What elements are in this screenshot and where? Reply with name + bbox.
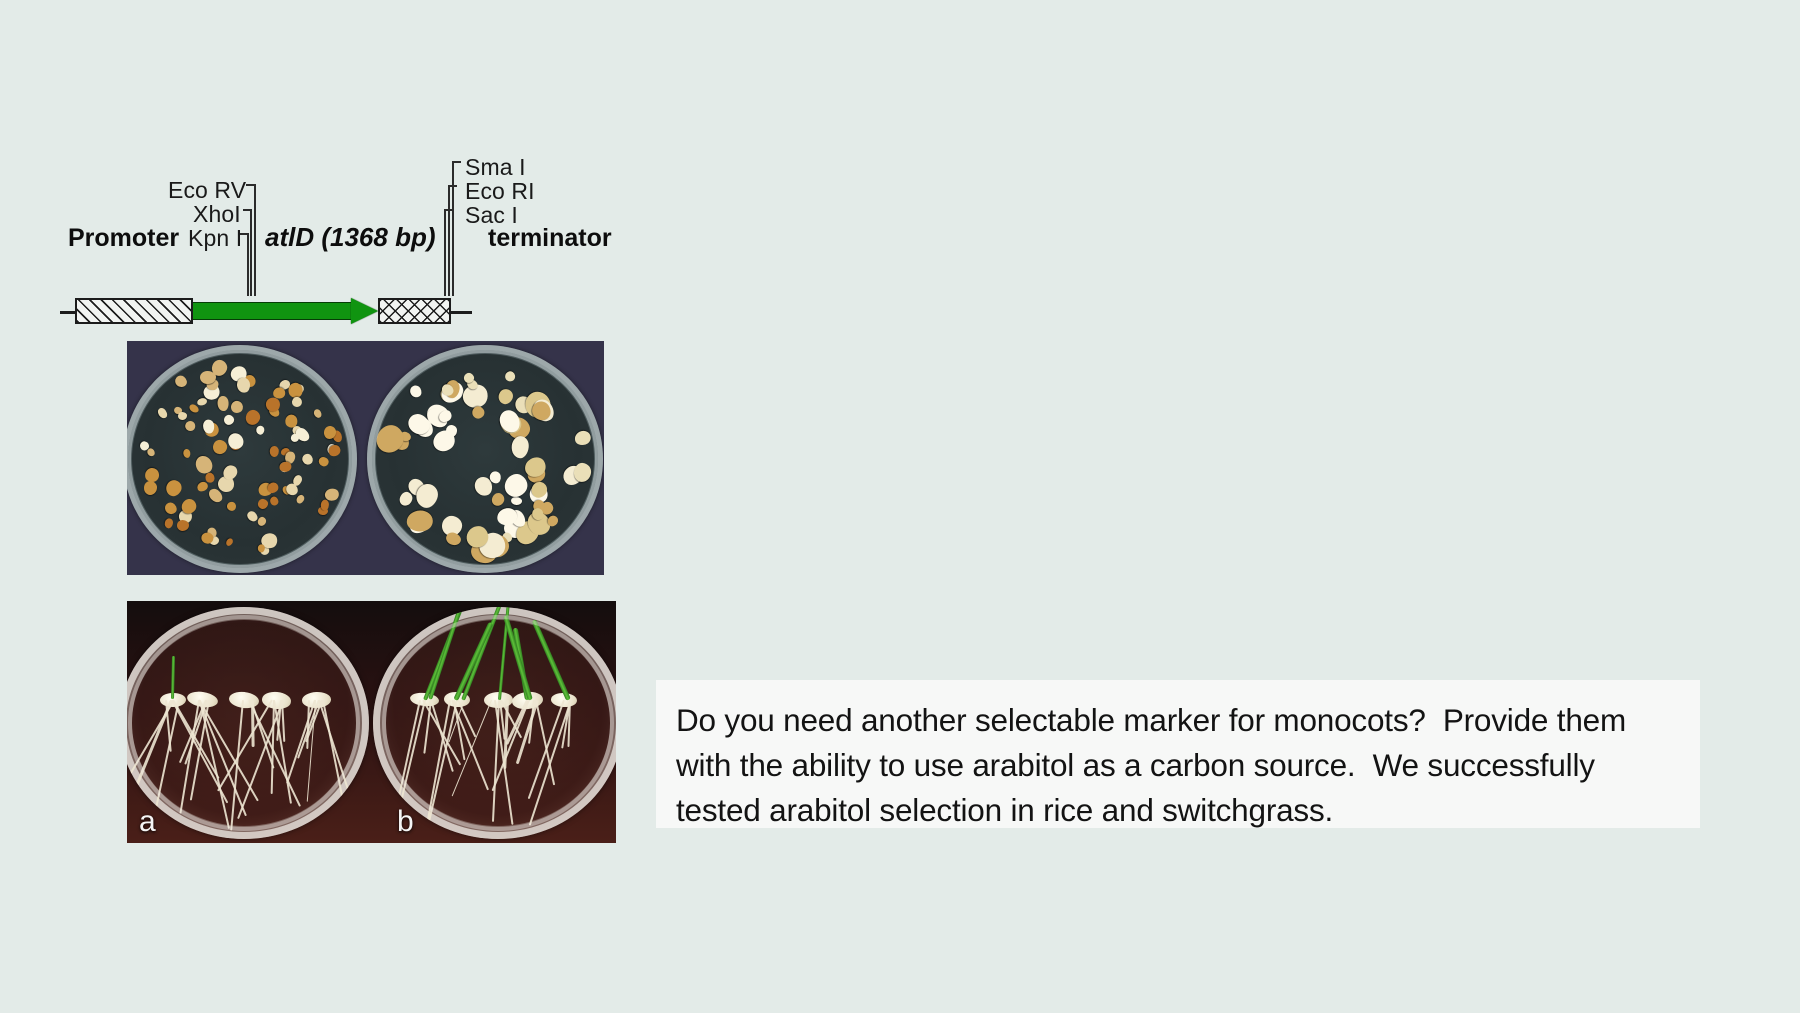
- root: [171, 699, 228, 803]
- root: [305, 699, 323, 741]
- root: [307, 700, 317, 801]
- callus-clump: [216, 474, 236, 494]
- root: [248, 699, 301, 806]
- callus-clump: [510, 496, 522, 505]
- callus-clump: [410, 414, 436, 441]
- root: [276, 700, 281, 741]
- callus-clump: [326, 442, 342, 458]
- callus-clump: [490, 491, 507, 509]
- root: [491, 699, 530, 791]
- callus-clump: [211, 438, 228, 456]
- root: [322, 700, 344, 801]
- callus-clump: [497, 408, 526, 437]
- seed-grain: [159, 693, 185, 708]
- callus-clump: [146, 447, 156, 458]
- callus-dish-right: [367, 345, 603, 573]
- callus-clump: [176, 520, 189, 532]
- callus-clump: [323, 425, 337, 440]
- seed-grain: [261, 690, 292, 709]
- root: [297, 700, 320, 759]
- root: [198, 699, 259, 801]
- callus-clump: [266, 481, 280, 495]
- callus-clump: [300, 452, 314, 467]
- callus-clump: [183, 419, 196, 432]
- gene-arrow: [193, 299, 378, 323]
- callus-clump: [182, 449, 191, 459]
- root: [129, 699, 172, 801]
- callus-clump: [179, 510, 193, 523]
- callus-clump: [489, 471, 502, 485]
- callus-clump: [281, 485, 292, 496]
- callus-clump: [203, 419, 215, 434]
- callus-clump: [529, 398, 554, 424]
- callus-clump: [496, 506, 519, 527]
- root: [217, 699, 273, 791]
- root: [271, 700, 275, 794]
- root: [505, 699, 528, 745]
- callus-clump: [524, 462, 548, 486]
- root: [190, 700, 210, 800]
- restriction-site-label-kpni: Kpn I: [188, 225, 242, 252]
- callus-clump: [207, 379, 219, 391]
- root: [230, 700, 244, 831]
- callus-clump: [278, 460, 292, 474]
- callus-clump: [439, 382, 455, 398]
- seed-grain: [229, 690, 261, 709]
- callus-clump: [218, 396, 229, 411]
- callus-clump: [224, 431, 246, 453]
- callus-clump: [196, 397, 207, 406]
- callus-clump: [172, 373, 188, 389]
- root: [561, 700, 571, 748]
- callus-clump: [559, 461, 586, 488]
- leader-line-xhoi: [250, 209, 252, 296]
- root: [427, 700, 459, 830]
- callus-clump: [406, 476, 429, 499]
- root: [179, 699, 207, 762]
- callus-clump: [138, 440, 151, 453]
- callus-clump: [312, 408, 323, 419]
- callus-clump: [270, 446, 279, 457]
- construct-bar: [60, 295, 620, 329]
- callus-clump: [164, 500, 180, 516]
- callus-clump: [327, 443, 337, 455]
- callus-clump: [512, 517, 543, 549]
- root: [251, 700, 254, 747]
- shoot: [428, 607, 463, 700]
- shoot: [531, 619, 570, 700]
- callus-clump: [531, 507, 546, 523]
- callus-clump: [523, 508, 555, 540]
- callus-clump: [290, 433, 300, 443]
- callus-clump: [206, 486, 224, 505]
- callus-clump: [205, 526, 218, 539]
- callus-clump: [324, 487, 340, 502]
- callus-dish-left: [127, 345, 357, 573]
- callus-clump: [255, 425, 264, 434]
- callus-clump: [532, 498, 546, 512]
- seed-grain: [301, 691, 331, 708]
- callus-clump: [522, 454, 550, 481]
- callus-clump: [291, 474, 303, 487]
- root: [453, 700, 466, 760]
- callus-clump: [283, 481, 299, 497]
- callus-clump: [220, 463, 239, 483]
- callus-clump: [164, 517, 174, 528]
- callus-clump: [438, 378, 467, 407]
- callus-clump: [508, 508, 528, 530]
- callus-clump: [472, 475, 495, 499]
- callus-clump: [203, 421, 221, 439]
- callus-clump: [266, 404, 281, 419]
- root: [286, 699, 316, 783]
- callus-clump: [208, 535, 220, 546]
- shoot: [498, 607, 510, 700]
- callus-clump: [257, 544, 265, 553]
- callus-clump: [144, 467, 160, 483]
- callus-clump: [406, 510, 432, 531]
- root: [318, 700, 350, 794]
- callus-clump: [528, 479, 550, 501]
- root: [515, 699, 538, 763]
- callus-clump: [291, 424, 303, 436]
- shoot: [513, 627, 530, 700]
- callus-clump: [465, 377, 479, 390]
- callus-clump: [406, 512, 433, 537]
- callus-clump: [446, 424, 457, 436]
- callus-clump: [371, 420, 408, 458]
- shoot: [171, 656, 175, 699]
- root: [237, 699, 284, 819]
- callus-clump: [468, 539, 499, 566]
- callus-clump: [179, 496, 200, 517]
- callus-clump: [265, 397, 281, 414]
- callus-clump: [294, 425, 312, 443]
- callus-clump: [284, 415, 297, 429]
- callus-clump: [463, 371, 477, 384]
- callus-clump: [280, 446, 291, 456]
- root: [425, 700, 451, 827]
- callus-clump: [178, 412, 188, 420]
- callus-clump: [317, 506, 328, 515]
- callus-clump: [444, 379, 461, 400]
- promoter-label: Promoter: [68, 224, 179, 253]
- callus-clump: [243, 374, 257, 388]
- callus-clump: [320, 500, 329, 512]
- callus-clump: [425, 402, 452, 427]
- plantlet-dish-a: [127, 607, 369, 839]
- callus-clump: [246, 509, 260, 523]
- callus-clump: [481, 530, 512, 561]
- root: [172, 699, 219, 778]
- callus-clump: [200, 532, 213, 544]
- shoot: [423, 607, 466, 701]
- root: [528, 700, 535, 744]
- leader-line-eco-ri: [448, 185, 450, 296]
- callus-clump: [164, 478, 184, 499]
- callus-clump: [244, 408, 262, 427]
- root: [535, 700, 555, 786]
- callus-clump: [269, 496, 280, 507]
- seed-grain: [512, 690, 545, 710]
- root: [457, 699, 476, 737]
- callus-clump: [226, 501, 237, 512]
- leader-line-eco-rv: [254, 184, 256, 296]
- callus-clump: [155, 407, 168, 421]
- callus-clump: [438, 384, 458, 405]
- callus-clump: [424, 405, 451, 432]
- callus-clump: [287, 382, 304, 400]
- callus-clump: [279, 461, 293, 473]
- root: [307, 700, 311, 749]
- callus-clump: [470, 404, 487, 421]
- promoter-box: [75, 298, 193, 324]
- callus-clump: [258, 544, 270, 556]
- callus-clump: [228, 363, 250, 384]
- callus-clump: [256, 481, 274, 498]
- callus-clump: [511, 435, 530, 459]
- callus-clump: [273, 387, 286, 398]
- callus-clump: [504, 414, 534, 443]
- callus-clump: [260, 531, 279, 550]
- backbone-line-right: [448, 311, 472, 314]
- seed-grain: [409, 692, 439, 708]
- gene-arrow-head: [351, 298, 378, 324]
- root: [448, 700, 465, 743]
- callus-clump: [405, 411, 434, 439]
- shoot: [461, 607, 504, 700]
- restriction-site-label-xhoi: XhoI: [193, 201, 241, 228]
- callus-clump: [210, 358, 229, 378]
- callus-clump: [256, 516, 267, 527]
- root: [180, 700, 201, 814]
- root: [494, 700, 513, 825]
- root: [399, 700, 426, 807]
- callus-clump: [223, 414, 236, 427]
- root: [503, 700, 508, 769]
- restriction-site-label-sma-i: Sma I: [465, 154, 526, 181]
- callus-clump: [440, 515, 464, 539]
- callus-clump: [545, 513, 560, 528]
- terminator-box: [378, 298, 451, 324]
- callus-clump: [236, 377, 250, 394]
- shoot: [453, 621, 493, 701]
- callus-clump: [215, 442, 224, 452]
- caption-text-box: Do you need another selectable marker fo…: [656, 680, 1700, 828]
- gene-construct-diagram: Eco RV XhoI Kpn I Sma I Eco RI Sac I Pro…: [60, 160, 620, 320]
- callus-clump: [460, 382, 491, 412]
- callus-clump: [291, 396, 303, 408]
- root: [492, 700, 500, 822]
- root: [422, 699, 461, 765]
- leader-line-sac-i: [444, 209, 446, 296]
- callus-clump: [187, 403, 199, 415]
- callus-clump: [398, 490, 415, 508]
- callus-clump: [229, 399, 245, 415]
- callus-clump: [444, 530, 463, 547]
- restriction-site-label-eco-rv: Eco RV: [168, 177, 246, 204]
- callus-clump: [520, 387, 555, 423]
- callus-selection-photo: [127, 341, 604, 575]
- callus-clump: [496, 387, 515, 407]
- callus-clump: [503, 518, 529, 539]
- callus-clump: [203, 471, 215, 483]
- root: [198, 699, 247, 815]
- root: [528, 699, 571, 825]
- callus-clump: [225, 536, 235, 547]
- callus-clump: [500, 531, 514, 545]
- callus-clump: [257, 498, 269, 509]
- callus-clump: [501, 470, 532, 501]
- root: [452, 700, 493, 797]
- callus-clump: [229, 436, 243, 450]
- gene-arrow-shaft: [193, 302, 355, 320]
- seed-grain: [443, 692, 469, 708]
- root: [165, 700, 172, 752]
- root: [281, 700, 285, 742]
- restriction-site-label-eco-ri: Eco RI: [465, 178, 535, 205]
- plantlet-regeneration-photo: a b: [127, 601, 616, 843]
- seed-grain: [551, 692, 577, 707]
- root: [250, 699, 275, 768]
- callus-clump: [389, 429, 413, 454]
- callus-clump: [409, 384, 424, 400]
- callus-clump: [331, 429, 344, 444]
- root: [430, 700, 454, 773]
- callus-clump: [317, 456, 329, 468]
- leader-line-sma-i: [452, 161, 454, 296]
- callus-clump: [173, 406, 183, 415]
- root: [499, 700, 505, 740]
- gene-name-label: atlD (1368 bp): [265, 222, 436, 253]
- callus-clump: [399, 430, 412, 442]
- callus-clump: [201, 383, 222, 403]
- callus-clump: [196, 480, 210, 493]
- callus-clump: [200, 371, 216, 384]
- callus-clump: [295, 494, 306, 505]
- seed-grain: [186, 690, 219, 710]
- panel-label-a: a: [139, 807, 156, 837]
- callus-clump: [527, 482, 551, 506]
- caption-paragraph: Do you need another selectable marker fo…: [676, 698, 1678, 833]
- callus-clump: [475, 528, 510, 563]
- callus-clump: [143, 480, 157, 494]
- callus-clump: [462, 521, 492, 551]
- seed-grain: [484, 691, 513, 708]
- callus-clump: [284, 450, 296, 464]
- slide-canvas: Eco RV XhoI Kpn I Sma I Eco RI Sac I Pro…: [0, 0, 1800, 1013]
- callus-clump: [193, 453, 216, 477]
- panel-label-b: b: [397, 807, 414, 837]
- root: [528, 699, 565, 799]
- root: [127, 699, 175, 814]
- callus-clump: [529, 396, 558, 426]
- root: [500, 699, 522, 737]
- root: [423, 700, 432, 754]
- callus-clump: [290, 383, 305, 397]
- callus-clump: [437, 408, 454, 424]
- callus-clump: [278, 378, 292, 392]
- root: [184, 699, 208, 764]
- root: [451, 699, 489, 790]
- root: [567, 700, 571, 747]
- callus-clump: [496, 407, 524, 436]
- callus-clump: [539, 499, 557, 517]
- root: [273, 700, 292, 804]
- shoot: [503, 615, 533, 701]
- callus-clump: [429, 426, 459, 456]
- callus-clump: [503, 370, 515, 382]
- callus-clump: [573, 462, 592, 483]
- root: [199, 700, 230, 829]
- callus-clump: [413, 481, 441, 510]
- callus-clump: [515, 396, 533, 415]
- terminator-label: terminator: [488, 224, 612, 253]
- leader-line-kpni: [247, 233, 249, 296]
- callus-clump: [573, 429, 592, 447]
